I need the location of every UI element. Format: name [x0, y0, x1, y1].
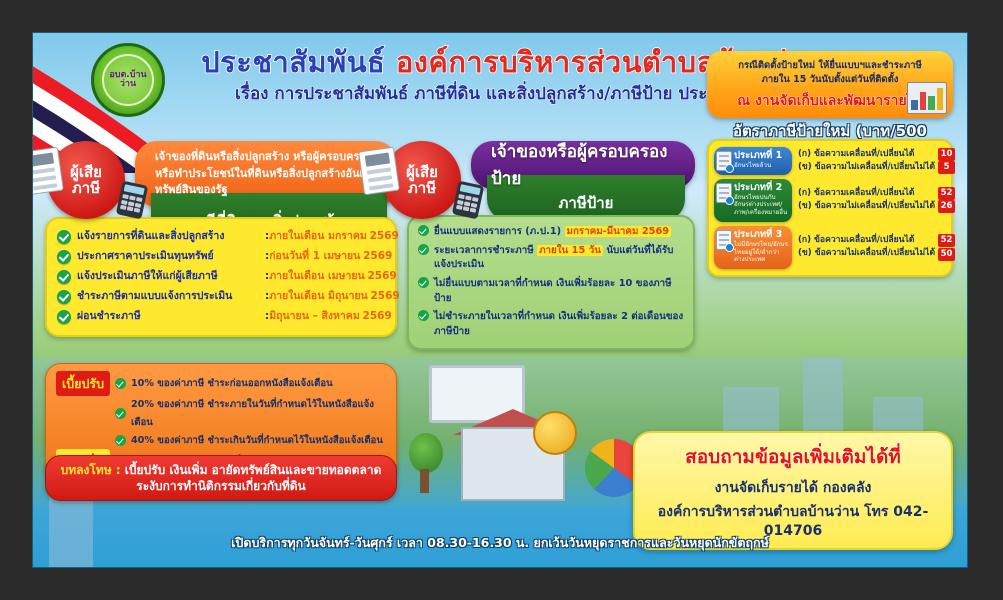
rate-category-2-values: (ก) ข้อความเคลื่อนที่/เปลี่ยนได้ 52 (ข) …: [792, 179, 955, 222]
table-row: ประเภทที่ 2 อักษรไทยปนกับอักษรต่างประเทศ…: [714, 179, 946, 222]
penalty-item: 40% ของค่าภาษี ชำระเกินวันที่กำหนดไว้ในห…: [131, 432, 383, 450]
rate-line: (ข) ข้อความไม่เคลื่อนที่/เปลี่ยนไม่ได้ 5…: [798, 247, 955, 260]
sign-schedule-row: ไม่ยื่นแบบตามเวลาที่กำหนด เงินเพิ่มร้อยล…: [418, 277, 684, 306]
rate-category-2: ประเภทที่ 2 อักษรไทยปนกับอักษรต่างประเทศ…: [714, 179, 792, 222]
title-part-1: ประชาสัมพันธ์: [201, 45, 385, 79]
schedule-label: ชำระภาษีตามแบบแจ้งการประเมิน: [77, 287, 265, 307]
rate-category-2-subtitle: อักษรไทยปนกับอักษรต่างประเทศ/ภาพ/เครื่อง…: [734, 194, 788, 217]
taxpayer-land-badge: ผู้เสีย ภาษี: [47, 141, 125, 219]
rate-category-1-title: ประเภทที่ 1: [734, 151, 788, 162]
taxpayer-sign-badge: ผู้เสีย ภาษี: [383, 141, 461, 219]
schedule-value: ก่อนวันที่ 1 เมษายน: [269, 247, 360, 267]
rate-line-value: 52: [938, 234, 955, 247]
schedule-year: 2569: [365, 267, 397, 287]
logo-text: อบต.บ้านว่าน: [104, 71, 152, 89]
schedule-row: ชำระภาษีตามแบบแจ้งการประเมิน : ภายในเดือ…: [57, 287, 385, 307]
schedule-row: ประกาศราคาประเมินทุนทรัพย์ : ก่อนวันที่ …: [57, 247, 385, 267]
sign-schedule-row: ยื่นแบบแสดงรายการ (ภ.ป.1) มกราคม-มีนาคม …: [418, 225, 684, 240]
logo-inner: อบต.บ้านว่าน: [102, 54, 154, 106]
clipboard-icon: [716, 151, 732, 171]
check-icon: [57, 310, 71, 324]
organization-logo: อบต.บ้านว่าน: [91, 43, 165, 117]
document-icon: [358, 147, 400, 196]
rate-category-3-title: ประเภทที่ 3: [734, 230, 788, 241]
tree-icon: [409, 433, 443, 493]
penalty-fine-tag: เบี้ยปรับ: [56, 371, 110, 396]
rate-category-3-subtitle: ไม่มีอักษรไทย/อักษรไทยอยู่ใต้/ต่ำกว่าต่า…: [734, 241, 788, 264]
schedule-year: 2569: [368, 287, 400, 307]
rate-line-value: 52: [938, 187, 955, 200]
rate-line-text: (ก) ข้อความเคลื่อนที่/เปลี่ยนได้: [798, 234, 935, 247]
rate-category-1-values: (ก) ข้อความเคลื่อนที่/เปลี่ยนได้ 10 (ข) …: [792, 147, 955, 175]
table-row: ประเภทที่ 3 ไม่มีอักษรไทย/อักษรไทยอยู่ใต…: [714, 226, 946, 269]
check-icon: [418, 244, 429, 255]
taxpayer-land-badge-line2: ภาษี: [72, 180, 100, 197]
rate-category-2-title: ประเภทที่ 2: [734, 183, 788, 194]
schedule-year: 2569: [367, 227, 399, 247]
check-icon: [115, 378, 126, 389]
sign-schedule-text: ระยะเวลาการชำระภาษี ภายใน 15 วัน นับแต่ว…: [434, 244, 684, 273]
rate-category-3: ประเภทที่ 3 ไม่มีอักษรไทย/อักษรไทยอยู่ใต…: [714, 226, 792, 269]
rate-line-value: 50: [938, 248, 955, 261]
rate-line-text: (ก) ข้อความเคลื่อนที่/เปลี่ยนได้: [798, 187, 935, 200]
schedule-year: 2569: [360, 247, 392, 267]
rate-category-3-values: (ก) ข้อความเคลื่อนที่/เปลี่ยนได้ 52 (ข) …: [792, 226, 955, 269]
rate-line-value: 26: [938, 200, 955, 213]
check-icon: [115, 408, 126, 419]
check-icon: [418, 225, 429, 236]
punishment-tag: บทลงโทษ :: [61, 463, 121, 477]
check-icon: [115, 435, 126, 446]
clipboard-icon: [716, 183, 732, 203]
rate-line-text: (ข) ข้อความไม่เคลื่อนที่/เปลี่ยนไม่ได้: [798, 200, 935, 213]
punishment-line-1: บทลงโทษ : เบี้ยปรับ เงินเพิ่ม อายัดทรัพย…: [56, 462, 386, 478]
sign-schedule-row: ไม่ชำระภายในเวลาที่กำหนด เงินเพิ่มร้อยละ…: [418, 310, 684, 339]
schedule-label: ประกาศราคาประเมินทุนทรัพย์: [77, 247, 265, 267]
schedule-label: ผ่อนชำระภาษี: [77, 307, 265, 327]
schedule-value: มิถุนายน – สิงหาคม: [269, 307, 360, 327]
sign-rate-table: ประเภทที่ 1 อักษรไทยล้วน (ก) ข้อความเคลื…: [707, 139, 953, 277]
schedule-value: ภายในเดือน มิถุนายน: [269, 287, 368, 307]
bar-chart-icon: [907, 82, 947, 114]
taxpayer-land-badge-line1: ผู้เสีย: [70, 164, 102, 181]
check-icon: [418, 277, 429, 288]
schedule-row: แจ้งรายการที่ดินและสิ่งปลูกสร้าง : ภายใน…: [57, 227, 385, 247]
notice-line-1: กรณีติดตั้งป้ายใหม่ ให้ยื่นแบบฯและชำระภา…: [717, 59, 943, 73]
land-tax-schedule: แจ้งรายการที่ดินและสิ่งปลูกสร้าง : ภายใน…: [45, 217, 397, 337]
poster-canvas: อบต.บ้านว่าน ประชาสัมพันธ์ องค์การบริหาร…: [32, 32, 968, 568]
rate-line-text: (ก) ข้อความเคลื่อนที่/เปลี่ยนได้: [798, 148, 935, 161]
contact-office: งานจัดเก็บรายได้ กองคลัง: [645, 477, 941, 499]
taxpayer-sign-badge-line1: ผู้เสีย: [406, 164, 438, 181]
schedule-value: ภายในเดือน มกราคม: [269, 227, 367, 247]
sign-schedule-text: ไม่ชำระภายในเวลาที่กำหนด เงินเพิ่มร้อยละ…: [434, 310, 684, 339]
punishment-line-2: ระงับการทำนิติกรรมเกี่ยวกับที่ดิน: [56, 478, 386, 494]
schedule-row: แจ้งประเมินภาษีให้แก่ผู้เสียภาษี : ภายใน…: [57, 267, 385, 287]
penalty-row: 20% ของค่าภาษี ชำระภายในวันที่กำหนดไว้ใน…: [56, 396, 386, 431]
sign-schedule-text: ไม่ยื่นแบบตามเวลาที่กำหนด เงินเพิ่มร้อยล…: [434, 277, 684, 306]
punishment-text-1: เบี้ยปรับ เงินเพิ่ม อายัดทรัพย์สินและขาย…: [125, 463, 382, 477]
schedule-label: แจ้งประเมินภาษีให้แก่ผู้เสียภาษี: [77, 267, 265, 287]
table-row: ประเภทที่ 1 อักษรไทยล้วน (ก) ข้อความเคลื…: [714, 147, 946, 175]
taxpayer-sign-description: เจ้าของหรือผู้ครอบครองป้าย: [471, 141, 695, 189]
rate-line-value: 10: [938, 148, 955, 161]
service-hours: เปิดบริการทุกวันจันทร์-วันศุกร์ เวลา 08.…: [33, 533, 967, 553]
rate-line-text: (ข) ข้อความไม่เคลื่อนที่/เปลี่ยนไม่ได้: [798, 247, 935, 260]
schedule-value: ภายในเดือน เมษายน: [269, 267, 364, 287]
rate-line: (ข) ข้อความไม่เคลื่อนที่/เปลี่ยนไม่ได้ 5: [798, 161, 955, 174]
check-icon: [57, 230, 71, 244]
penalty-item: 10% ของค่าภาษี ชำระก่อนออกหนังสือแจ้งเตื…: [131, 375, 333, 393]
rate-line: (ก) ข้อความเคลื่อนที่/เปลี่ยนได้ 10: [798, 148, 955, 161]
check-icon: [57, 270, 71, 284]
rate-category-1-subtitle: อักษรไทยล้วน: [734, 162, 788, 170]
rate-line-value: 5: [938, 161, 955, 174]
taxpayer-sign-section: ผู้เสีย ภาษี เจ้าของหรือผู้ครอบครองป้าย …: [383, 141, 695, 221]
schedule-row: ผ่อนชำระภาษี : มิถุนายน – สิงหาคม 2569: [57, 307, 385, 327]
sign-schedule-text: ยื่นแบบแสดงรายการ (ภ.ป.1) มกราคม-มีนาคม …: [434, 225, 684, 240]
schedule-year: 2569: [360, 307, 392, 327]
coin-icon: [533, 411, 577, 455]
penalty-row: 40% ของค่าภาษี ชำระเกินวันที่กำหนดไว้ในห…: [56, 432, 386, 450]
rate-line: (ก) ข้อความเคลื่อนที่/เปลี่ยนได้ 52: [798, 187, 955, 200]
clipboard-icon: [716, 230, 732, 250]
sign-tax-schedule: ยื่นแบบแสดงรายการ (ภ.ป.1) มกราคม-มีนาคม …: [407, 215, 695, 350]
taxpayer-sign-badge-line2: ภาษี: [408, 180, 436, 197]
new-sign-notice: กรณีติดตั้งป้ายใหม่ ให้ยื่นแบบฯและชำระภา…: [707, 51, 953, 118]
rate-line: (ก) ข้อความเคลื่อนที่/เปลี่ยนได้ 52: [798, 234, 955, 247]
document-icon: [32, 147, 64, 196]
rate-line: (ข) ข้อความไม่เคลื่อนที่/เปลี่ยนไม่ได้ 2…: [798, 200, 955, 213]
sign-schedule-row: ระยะเวลาการชำระภาษี ภายใน 15 วัน นับแต่ว…: [418, 244, 684, 273]
rate-category-1: ประเภทที่ 1 อักษรไทยล้วน: [714, 147, 792, 175]
contact-heading: สอบถามข้อมูลเพิ่มเติมได้ที่: [645, 442, 941, 472]
taxpayer-sign-body: เจ้าของหรือผู้ครอบครองป้าย ภาษีป้าย: [445, 141, 695, 221]
rate-line-text: (ข) ข้อความไม่เคลื่อนที่/เปลี่ยนไม่ได้: [798, 161, 935, 174]
punishment-box: บทลงโทษ : เบี้ยปรับ เงินเพิ่ม อายัดทรัพย…: [45, 455, 397, 501]
check-icon: [57, 250, 71, 264]
schedule-label: แจ้งรายการที่ดินและสิ่งปลูกสร้าง: [77, 227, 265, 247]
check-icon: [57, 290, 71, 304]
penalty-item: 20% ของค่าภาษี ชำระภายในวันที่กำหนดไว้ใน…: [131, 396, 386, 431]
check-icon: [418, 310, 429, 321]
penalty-row: เบี้ยปรับ 10% ของค่าภาษี ชำระก่อนออกหนัง…: [56, 371, 386, 396]
